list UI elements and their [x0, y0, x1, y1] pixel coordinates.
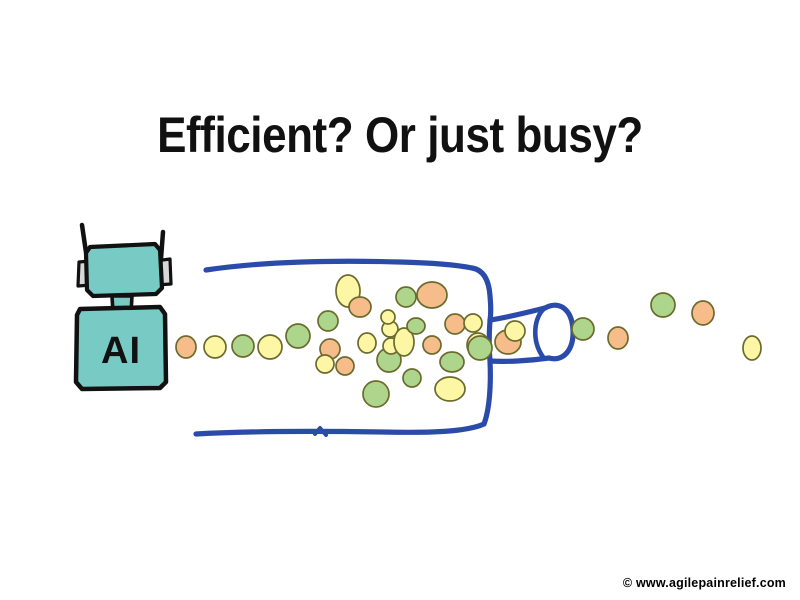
queue-dot-4 [320, 339, 340, 359]
bottle-mouth-inner [535, 308, 545, 357]
bottleneck-bottle [196, 261, 573, 435]
illustration: AI [0, 0, 800, 600]
input-dot-2 [204, 336, 226, 358]
queue-dot-14 [396, 287, 416, 307]
slide-canvas: Efficient? Or just busy? AI [0, 0, 800, 600]
robot-body [76, 307, 166, 389]
bottle-shoulder-bottom [484, 320, 490, 424]
queue-dot-15 [394, 328, 414, 356]
bottle-mouth-lip [545, 305, 573, 359]
bottle-neck-top [490, 308, 545, 320]
queue-dot-16 [403, 369, 421, 387]
queue-dot-17 [407, 318, 425, 334]
queue-dot-19 [423, 336, 441, 354]
queue-dot-6 [336, 357, 354, 375]
queue-dot-8 [358, 333, 376, 353]
page-title: Efficient? Or just busy? [48, 106, 752, 164]
robot-ai-label: AI [101, 330, 141, 372]
queue-dot-12 [383, 338, 399, 354]
robot-antenna-left-icon [82, 225, 88, 266]
queue-dot-26 [495, 330, 521, 354]
queue-dot-27 [505, 321, 525, 341]
copyright-footer: © www.agilepainrelief.com [623, 576, 786, 590]
input-stream-group [176, 335, 282, 359]
bottle-bottom-wall [196, 424, 484, 434]
queue-dot-10 [377, 348, 401, 372]
robot-antenna-right-icon [160, 232, 163, 272]
output-stream-group [572, 293, 761, 360]
queue-dot-21 [445, 314, 465, 334]
robot-neck [112, 296, 132, 313]
queue-dot-3 [336, 275, 360, 307]
output-dot-1 [572, 318, 594, 340]
queue-dot-23 [464, 314, 482, 332]
queue-dot-20 [435, 377, 465, 401]
queue-dot-2 [318, 311, 338, 331]
queue-dot-24 [467, 333, 489, 357]
dot-layer [176, 275, 761, 407]
ai-robot: AI [76, 225, 171, 389]
input-dot-1 [176, 336, 196, 358]
queue-dot-7 [349, 297, 371, 317]
robot-head [86, 244, 162, 296]
queue-dot-25 [468, 336, 492, 360]
queue-dot-1 [286, 324, 310, 348]
bottle-top-wall [206, 261, 472, 270]
bottle-bottom-kink [315, 428, 326, 435]
queue-dot-5 [316, 355, 334, 373]
bottle-neck-bottom [490, 358, 549, 361]
robot-ear-right-icon [155, 259, 171, 285]
queue-dot-18 [417, 282, 447, 308]
bottle-shoulder-top [472, 268, 491, 320]
output-dot-4 [692, 301, 714, 325]
queue-group [286, 275, 525, 407]
queue-dot-11 [382, 321, 398, 337]
queue-dot-22 [440, 352, 464, 372]
input-dot-4 [258, 335, 282, 359]
queue-dot-9 [363, 381, 389, 407]
output-dot-2 [608, 327, 628, 349]
queue-dot-13 [381, 310, 395, 324]
input-dot-3 [232, 335, 254, 357]
output-dot-5 [743, 336, 761, 360]
robot-ear-left-icon [78, 261, 91, 286]
output-dot-3 [651, 293, 675, 317]
